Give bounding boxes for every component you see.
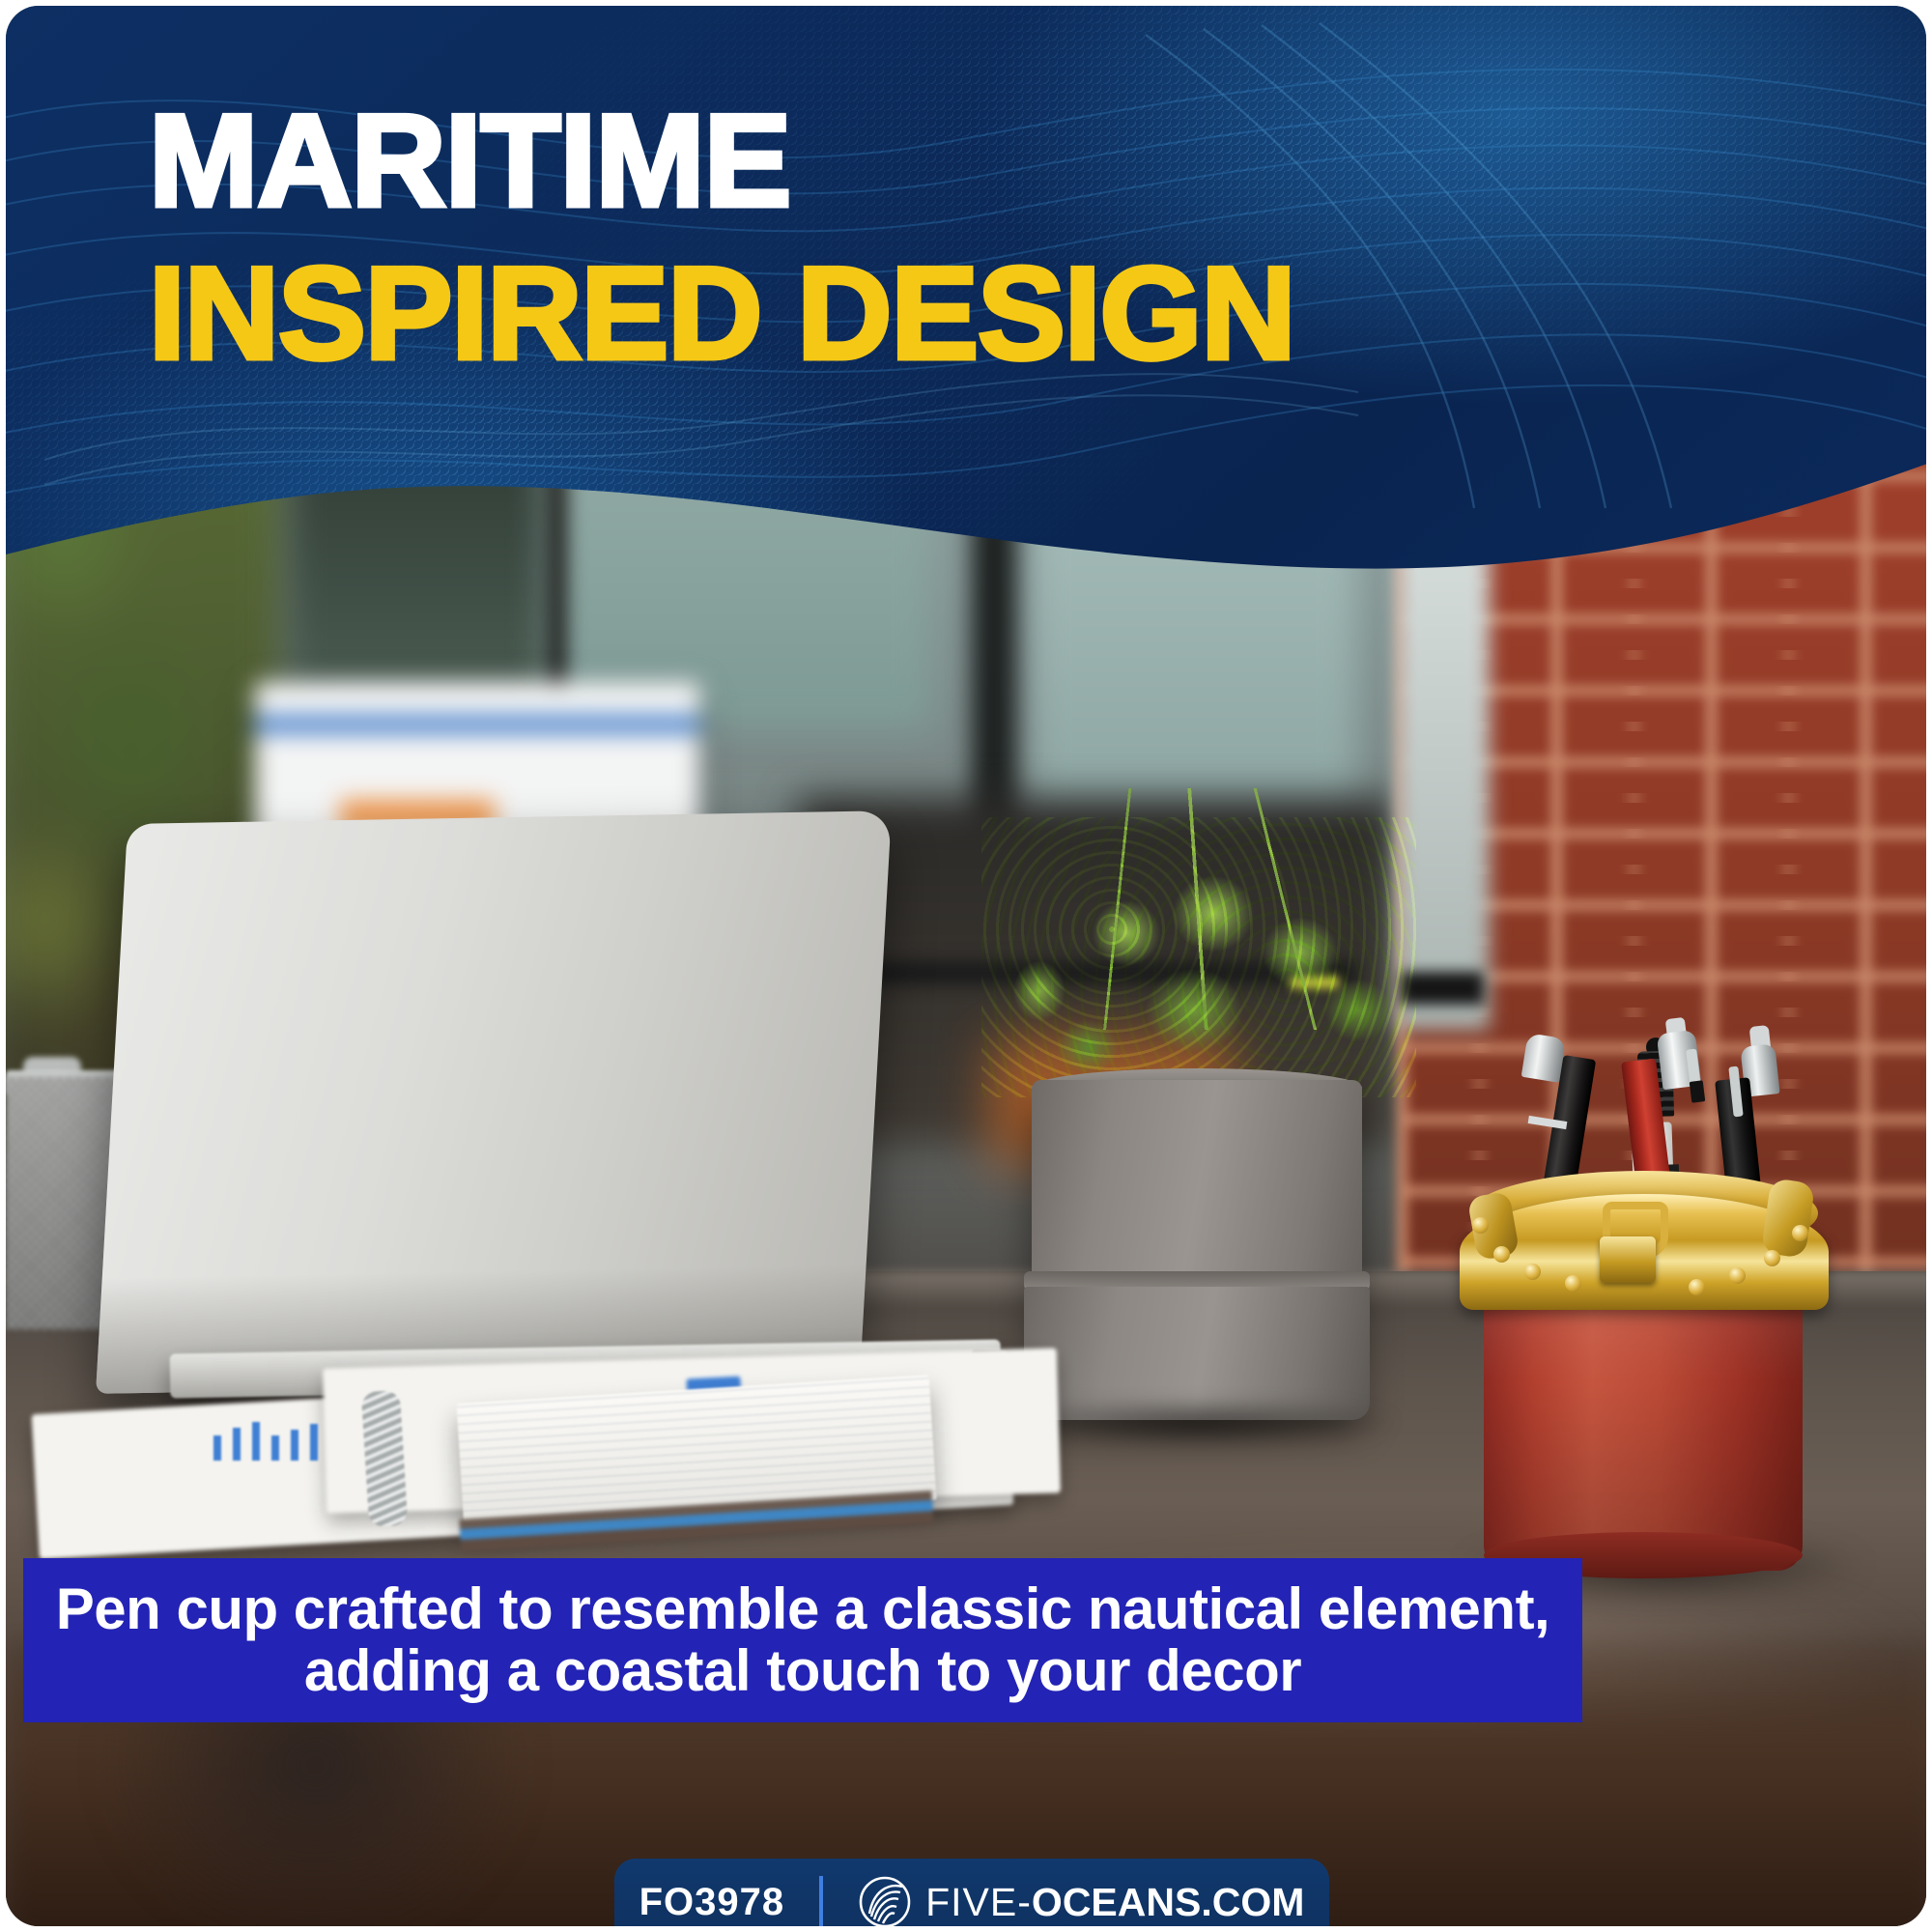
- brand-prefix: FIVE-: [925, 1880, 1032, 1924]
- product-sku: FO3978: [639, 1881, 785, 1924]
- footer-divider: [819, 1876, 823, 1926]
- banner-title: MARITIME INSPIRED DESIGN: [149, 95, 1598, 379]
- plant-pot-lower: [1024, 1287, 1370, 1420]
- footer-badge: FO3978 FIVE-OCEANS.COM: [614, 1859, 1329, 1926]
- promo-card: MARITIME INSPIRED DESIGN Pen cup crafted…: [6, 6, 1926, 1926]
- pen-grip-accent: [1690, 1080, 1706, 1103]
- paper-bar-chart-bar: [271, 1435, 279, 1461]
- title-line-one: MARITIME: [149, 95, 1598, 226]
- brand-suffix: OCEANS.COM: [1032, 1880, 1304, 1924]
- header-banner: MARITIME INSPIRED DESIGN: [6, 6, 1926, 624]
- laptop-lid: [96, 810, 892, 1394]
- plant-leaf-texture: [981, 817, 1416, 1097]
- plant-pot-shadow: [1001, 1405, 1397, 1449]
- paper-bar-chart-bar: [252, 1422, 260, 1461]
- porthole-rivet: [1792, 1225, 1808, 1241]
- monitor-header-bar: [255, 717, 699, 732]
- paper-bar-chart-bar: [291, 1430, 298, 1461]
- five-oceans-shell-logo-icon: [858, 1875, 912, 1926]
- caption-text: Pen cup crafted to resemble a classic na…: [23, 1578, 1582, 1701]
- porthole-rivet: [1524, 1264, 1541, 1280]
- brand-url: FIVE-OCEANS.COM: [925, 1880, 1304, 1925]
- porthole-rivet: [1493, 1246, 1510, 1263]
- pen-cup-body: [1484, 1281, 1803, 1571]
- porthole-latch: [1600, 1236, 1656, 1283]
- porthole-rivet: [1472, 1217, 1489, 1234]
- title-line-two: INSPIRED DESIGN: [149, 247, 1598, 379]
- porthole-rivet: [1689, 1279, 1705, 1295]
- porthole-rivet: [1764, 1250, 1780, 1266]
- notebook-spiral-binding: [361, 1390, 408, 1527]
- porthole-rivet: [1729, 1267, 1746, 1284]
- paper-bar-chart-bar: [213, 1435, 221, 1461]
- paper-bar-chart-bar: [233, 1428, 241, 1461]
- paper-bar-chart-bar: [310, 1424, 318, 1461]
- porthole-rivet: [1565, 1275, 1581, 1292]
- brand-lockup[interactable]: FIVE-OCEANS.COM: [858, 1875, 1304, 1926]
- caption-bar: Pen cup crafted to resemble a classic na…: [23, 1558, 1582, 1722]
